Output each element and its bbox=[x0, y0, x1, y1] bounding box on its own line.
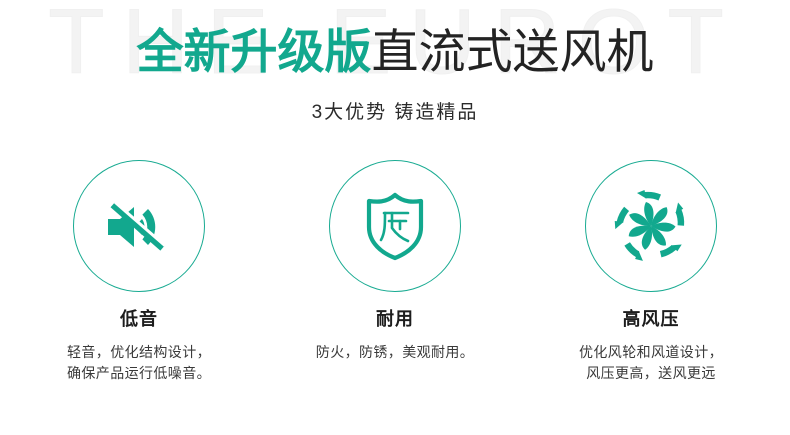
feature-title: 耐用 bbox=[376, 305, 414, 331]
feature-description: 轻音，优化结构设计， 确保产品运行低噪音。 bbox=[67, 342, 211, 384]
shield-quality-icon bbox=[356, 187, 434, 265]
feature-title: 高风压 bbox=[623, 305, 680, 331]
feature-title: 低音 bbox=[120, 305, 158, 331]
page-title-highlight: 全新升级版 bbox=[137, 25, 372, 80]
feature-icon-circle bbox=[73, 160, 205, 292]
feature-item-durable: 耐用 防火，防锈，美观耐用。 bbox=[267, 160, 523, 384]
promo-banner: THE EUROT 全新升级版直流式送风机 3大优势 铸造精品 bbox=[0, 0, 790, 435]
fan-airflow-icon bbox=[611, 186, 691, 266]
feature-icon-circle bbox=[585, 160, 717, 292]
page-title: 全新升级版直流式送风机 bbox=[0, 22, 790, 83]
speaker-muted-icon bbox=[100, 187, 178, 265]
feature-description: 优化风轮和风道设计， 风压更高，送风更远 bbox=[579, 342, 723, 384]
page-subtitle: 3大优势 铸造精品 bbox=[0, 97, 790, 124]
header: 全新升级版直流式送风机 3大优势 铸造精品 bbox=[0, 22, 790, 124]
feature-list: 低音 轻音，优化结构设计， 确保产品运行低噪音。 bbox=[0, 160, 790, 384]
page-title-rest: 直流式送风机 bbox=[372, 25, 654, 78]
feature-item-low-noise: 低音 轻音，优化结构设计， 确保产品运行低噪音。 bbox=[11, 160, 267, 384]
feature-icon-circle bbox=[329, 160, 461, 292]
feature-item-high-pressure: 高风压 优化风轮和风道设计， 风压更高，送风更远 bbox=[523, 160, 779, 384]
feature-description: 防火，防锈，美观耐用。 bbox=[316, 342, 474, 363]
